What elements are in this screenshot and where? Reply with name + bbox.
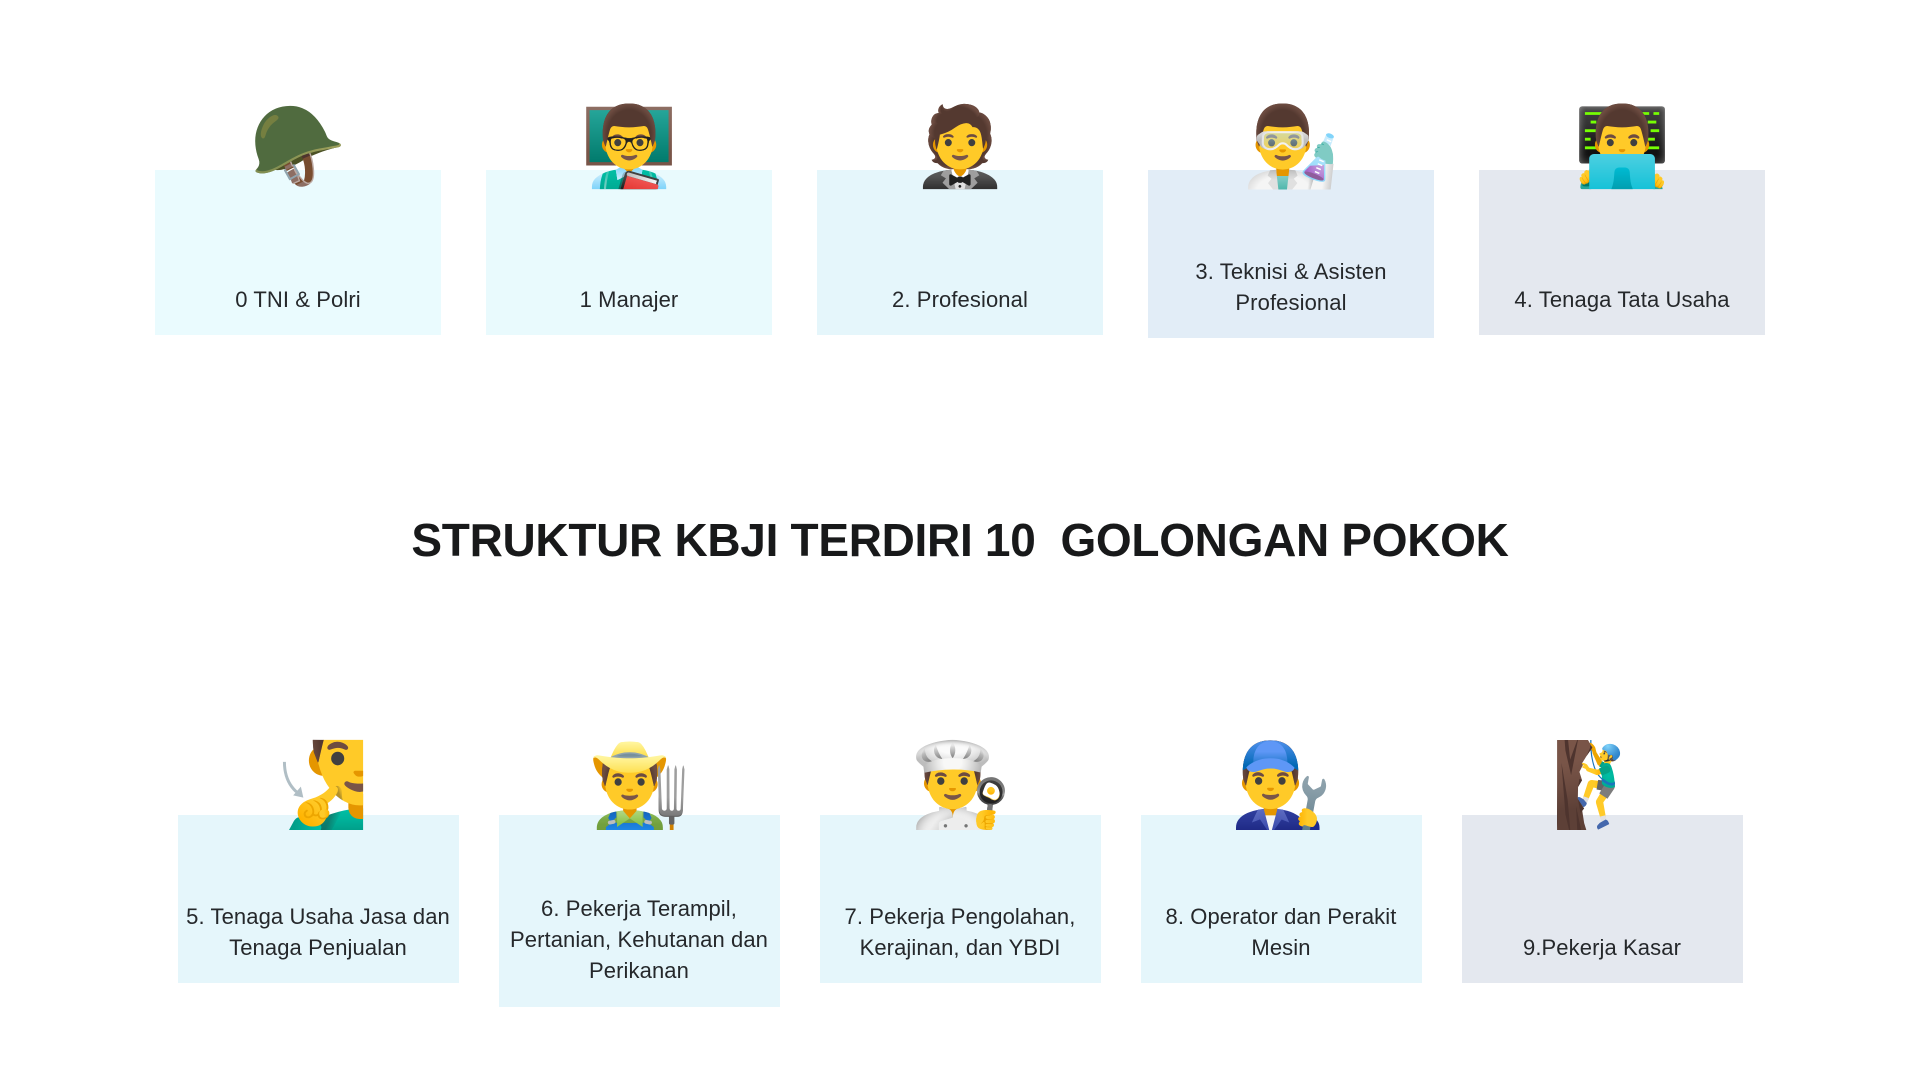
person-in-tuxedo-icon: 🤵: [911, 108, 1008, 186]
slide-canvas: 🪖 0 TNI & Polri 👨‍🏫 1 Manajer 🤵 2. Profe…: [0, 0, 1920, 1080]
technologist-laptop-icon: 👨‍💻: [1573, 108, 1670, 186]
card-tni-polri[interactable]: 🪖 0 TNI & Polri: [155, 170, 441, 335]
card-label: 0 TNI & Polri: [155, 284, 441, 315]
deaf-man-icon: 🧏‍♂️: [267, 745, 369, 827]
card-pekerja-kasar[interactable]: 🧗‍♂️ 9.Pekerja Kasar: [1462, 815, 1743, 983]
card-pekerja-terampil-pertanian[interactable]: 👨‍🌾 6. Pekerja Terampil, Pertanian, Kehu…: [499, 815, 780, 1007]
scientist-icon: 👨‍🔬: [1242, 108, 1339, 186]
mechanic-icon: 👨‍🔧: [1230, 745, 1332, 827]
person-climbing-icon: 🧗‍♂️: [1551, 745, 1653, 827]
card-label: 6. Pekerja Terampil, Pertanian, Kehutana…: [499, 893, 780, 987]
card-profesional[interactable]: 🤵 2. Profesional: [817, 170, 1103, 335]
card-label: 2. Profesional: [817, 284, 1103, 315]
card-label: 3. Teknisi & Asisten Profesional: [1148, 256, 1434, 318]
card-label: 1 Manajer: [486, 284, 772, 315]
card-label: 4. Tenaga Tata Usaha: [1479, 284, 1765, 315]
cook-chef-icon: 👨‍🍳: [909, 745, 1011, 827]
farmer-icon: 👨‍🌾: [588, 745, 690, 827]
card-label: 7. Pekerja Pengolahan, Kerajinan, dan YB…: [820, 901, 1101, 963]
card-teknisi-asisten-profesional[interactable]: 👨‍🔬 3. Teknisi & Asisten Profesional: [1148, 170, 1434, 338]
card-tenaga-tata-usaha[interactable]: 👨‍💻 4. Tenaga Tata Usaha: [1479, 170, 1765, 335]
military-helmet-icon: 🪖: [249, 108, 346, 186]
card-row-top: 🪖 0 TNI & Polri 👨‍🏫 1 Manajer 🤵 2. Profe…: [0, 170, 1920, 338]
card-label: 5. Tenaga Usaha Jasa dan Tenaga Penjuala…: [178, 901, 459, 963]
card-manajer[interactable]: 👨‍🏫 1 Manajer: [486, 170, 772, 335]
card-operator-perakit-mesin[interactable]: 👨‍🔧 8. Operator dan Perakit Mesin: [1141, 815, 1422, 983]
card-label: 8. Operator dan Perakit Mesin: [1141, 901, 1422, 963]
card-tenaga-usaha-jasa-penjualan[interactable]: 🧏‍♂️ 5. Tenaga Usaha Jasa dan Tenaga Pen…: [178, 815, 459, 983]
manager-presenter-icon: 👨‍🏫: [580, 108, 677, 186]
card-label: 9.Pekerja Kasar: [1462, 932, 1743, 963]
card-pekerja-pengolahan-kerajinan[interactable]: 👨‍🍳 7. Pekerja Pengolahan, Kerajinan, da…: [820, 815, 1101, 983]
card-row-bottom: 🧏‍♂️ 5. Tenaga Usaha Jasa dan Tenaga Pen…: [0, 815, 1920, 1007]
page-title: STRUKTUR KBJI TERDIRI 10 GOLONGAN POKOK: [0, 513, 1920, 567]
